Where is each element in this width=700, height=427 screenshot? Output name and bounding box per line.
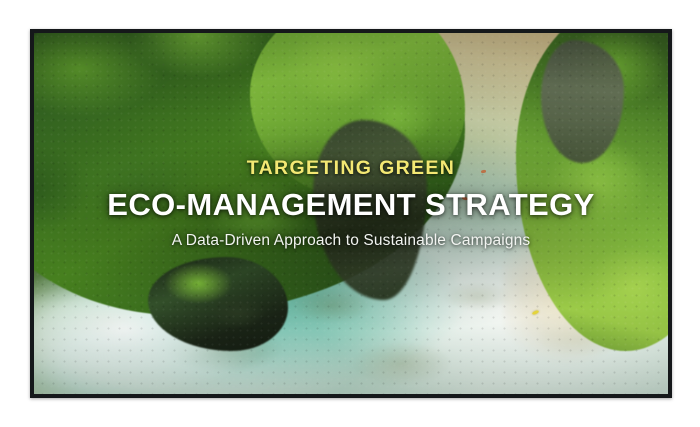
photo-frame: TARGETING GREEN ECO-MANAGEMENT STRATEGY … [30,29,672,398]
slide-title: ECO-MANAGEMENT STRATEGY [34,189,668,220]
background-photo: TARGETING GREEN ECO-MANAGEMENT STRATEGY … [34,33,668,394]
slide-canvas: TARGETING GREEN ECO-MANAGEMENT STRATEGY … [0,0,700,427]
eyebrow-text: TARGETING GREEN [34,159,668,179]
title-block: TARGETING GREEN ECO-MANAGEMENT STRATEGY … [34,159,668,248]
slide-subtitle: A Data-Driven Approach to Sustainable Ca… [34,233,668,249]
